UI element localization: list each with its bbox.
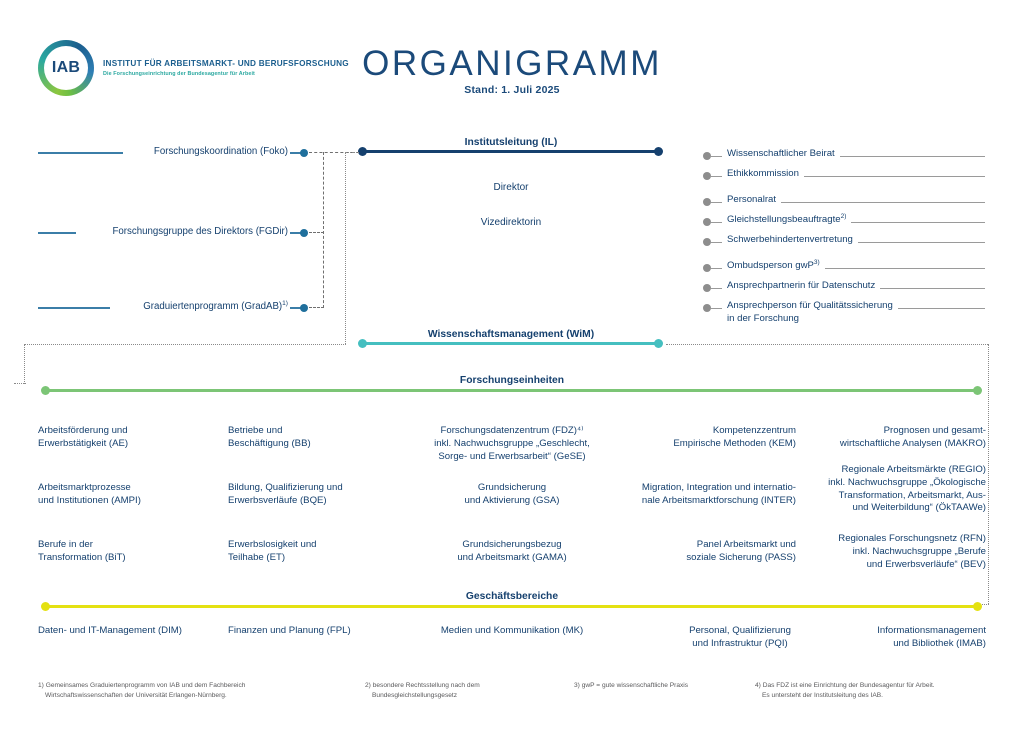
footnote-4: 4) Das FDZ ist eine Einrichtung der Bund… xyxy=(755,681,1005,700)
research-unit-bit: Berufe in derTransformation (BiT) xyxy=(38,539,213,565)
research-unit-makro: Prognosen und gesamt-wirtschaftliche Ana… xyxy=(790,425,986,451)
footnote-4-line1: Das FDZ ist eine Einrichtung der Bundesa… xyxy=(763,682,935,689)
footnote-1-line2: Wirtschaftswissenschaften der Universitä… xyxy=(38,691,338,701)
advisory-item-datenschutz: Ansprechpartnerin für Datenschutz xyxy=(703,280,985,293)
connector-fgdir-horizontal xyxy=(309,232,324,233)
advisory-dash xyxy=(711,176,722,177)
footnote-2-num: 2) xyxy=(365,682,371,689)
advisory-dash xyxy=(711,156,722,157)
connector-enclosure-left-foot xyxy=(14,383,26,384)
advisory-tail xyxy=(858,242,985,243)
institutsleitung-dot-right xyxy=(654,147,663,156)
advisory-dash xyxy=(711,222,722,223)
advisory-label: Ombudsperson gwP3) xyxy=(722,260,825,273)
advisory-dot-icon xyxy=(703,198,711,206)
footnote-3-line1: gwP = gute wissenschaftliche Praxis xyxy=(582,682,688,689)
business-unit-dim: Daten- und IT-Management (DIM) xyxy=(38,625,218,638)
business-unit-mk: Medien und Kommunikation (MK) xyxy=(392,625,632,638)
research-unit-ae: Arbeitsförderung undErwerbstätigkeit (AE… xyxy=(38,425,213,451)
advisory-tail xyxy=(880,288,985,289)
advisory-tail xyxy=(781,202,985,203)
forschungseinheiten-bar xyxy=(46,389,978,392)
footnote-2-line1: besondere Rechtsstellung nach dem xyxy=(373,682,480,689)
advisory-tail xyxy=(898,308,985,309)
advisory-label: Ethikkommission xyxy=(722,168,804,181)
institutsleitung-bar xyxy=(363,150,659,153)
connector-il-to-wim-left xyxy=(345,152,346,344)
advisory-note: 3) xyxy=(814,259,820,266)
research-unit-pass: Panel Arbeitsmarkt undsoziale Sicherung … xyxy=(596,539,796,565)
advisory-item-gleichstellungsbeauftragte: Gleichstellungsbeauftragte2) xyxy=(703,214,985,227)
footnote-3: 3) gwP = gute wissenschaftliche Praxis xyxy=(574,681,754,691)
wissenschaftsmanagement-dot-left xyxy=(358,339,367,348)
research-unit-rfn: Regionales Forschungsnetz (RFN)inkl. Nac… xyxy=(790,533,986,571)
forschungseinheiten-title: Forschungseinheiten xyxy=(262,375,762,386)
footnote-3-num: 3) xyxy=(574,682,580,689)
staff-dot-gradab xyxy=(300,304,308,312)
advisory-item-qualitaetssicherung: Ansprechperson für Qualitätssicherungin … xyxy=(703,300,985,325)
leadership-role-direktor: Direktor xyxy=(361,181,661,194)
connector-enclosure-right xyxy=(988,344,989,604)
staff-label-fgdir: Forschungsgruppe des Direktors (FGDir) xyxy=(0,226,288,237)
advisory-label: Gleichstellungsbeauftragte2) xyxy=(722,214,851,227)
organigramm-page: IAB INSTITUT FÜR ARBEITSMARKT- UND BERUF… xyxy=(0,0,1024,732)
geschaeftsbereiche-dot-left xyxy=(41,602,50,611)
footnote-2-line2: Bundesgleichstellungsgesetz xyxy=(365,691,565,701)
advisory-dot-icon xyxy=(703,218,711,226)
advisory-dot-icon xyxy=(703,152,711,160)
advisory-tail xyxy=(851,222,985,223)
advisory-label: Wissenschaftlicher Beirat xyxy=(722,148,840,161)
institutsleitung-title: Institutsleitung (IL) xyxy=(361,137,661,148)
advisory-dash xyxy=(711,288,722,289)
advisory-item-ombudsperson-gwp: Ombudsperson gwP3) xyxy=(703,260,985,273)
advisory-dash xyxy=(711,308,722,309)
advisory-tail xyxy=(804,176,985,177)
footnote-2: 2) besondere Rechtsstellung nach dem Bun… xyxy=(365,681,565,700)
advisory-dash xyxy=(711,202,722,203)
iab-logo-mark: IAB xyxy=(52,59,80,77)
advisory-label: Personalrat xyxy=(722,194,781,207)
staff-dot-fgdir xyxy=(300,229,308,237)
research-unit-inter: Migration, Integration und internatio-na… xyxy=(596,482,796,508)
footnote-1: 1) Gemeinsames Graduiertenprogramm von I… xyxy=(38,681,338,700)
business-unit-imab: Informationsmanagementund Bibliothek (IM… xyxy=(790,625,986,651)
connector-wim-left-run xyxy=(24,344,346,345)
geschaeftsbereiche-bar xyxy=(46,605,978,608)
institutsleitung-dot-left xyxy=(358,147,367,156)
advisory-dot-icon xyxy=(703,284,711,292)
connector-il-left-tick xyxy=(345,152,359,153)
page-title: ORGANIGRAMM xyxy=(0,44,1024,84)
advisory-dot-icon xyxy=(703,172,711,180)
connector-wim-right-run xyxy=(666,344,988,345)
advisory-item-ethikkommission: Ethikkommission xyxy=(703,168,985,181)
advisory-label: Schwerbehindertenvertretung xyxy=(722,234,858,247)
advisory-dash xyxy=(711,242,722,243)
advisory-note: 2) xyxy=(841,213,847,220)
leadership-role-vizedirektorin: Vizedirektorin xyxy=(361,216,661,229)
footnote-1-num: 1) xyxy=(38,682,44,689)
advisory-item-wissenschaftlicher-beirat: Wissenschaftlicher Beirat xyxy=(703,148,985,161)
connector-staff-spine xyxy=(323,152,324,308)
wissenschaftsmanagement-bar xyxy=(363,342,659,345)
advisory-item-personalrat: Personalrat xyxy=(703,194,985,207)
staff-dot-foko xyxy=(300,149,308,157)
staff-note-gradab: 1) xyxy=(282,300,288,307)
staff-label-gradab: Graduiertenprogramm (GradAB)1) xyxy=(0,301,288,312)
advisory-dot-icon xyxy=(703,238,711,246)
advisory-label: Ansprechperson für Qualitätssicherungin … xyxy=(722,300,898,325)
advisory-tail xyxy=(840,156,985,157)
page-subtitle: Stand: 1. Juli 2025 xyxy=(0,84,1024,96)
footnote-4-line2: Es untersteht der Institutsleitung des I… xyxy=(755,691,1005,701)
advisory-item-schwerbehindertenvertretung: Schwerbehindertenvertretung xyxy=(703,234,985,247)
advisory-tail xyxy=(825,268,985,269)
staff-label-foko: Forschungskoordination (Foko) xyxy=(0,146,288,157)
connector-gradab-horizontal xyxy=(309,307,324,308)
research-unit-regio: Regionale Arbeitsmärkte (REGIO)inkl. Nac… xyxy=(790,464,986,515)
research-unit-kem: KompetenzzentrumEmpirische Methoden (KEM… xyxy=(596,425,796,451)
advisory-dot-icon xyxy=(703,304,711,312)
connector-enclosure-left xyxy=(24,344,25,384)
footnote-4-num: 4) xyxy=(755,682,761,689)
advisory-dot-icon xyxy=(703,264,711,272)
forschungseinheiten-dot-right xyxy=(973,386,982,395)
business-unit-fpl: Finanzen und Planung (FPL) xyxy=(228,625,418,638)
research-unit-ampi: Arbeitsmarktprozesseund Institutionen (A… xyxy=(38,482,218,508)
advisory-label: Ansprechpartnerin für Datenschutz xyxy=(722,280,880,293)
geschaeftsbereiche-dot-right xyxy=(973,602,982,611)
wissenschaftsmanagement-dot-right xyxy=(654,339,663,348)
footnote-1-line1: Gemeinsames Graduiertenprogramm von IAB … xyxy=(46,682,246,689)
advisory-dash xyxy=(711,268,722,269)
geschaeftsbereiche-title: Geschäftsbereiche xyxy=(262,591,762,602)
wissenschaftsmanagement-title: Wissenschaftsmanagement (WiM) xyxy=(361,329,661,340)
forschungseinheiten-dot-left xyxy=(41,386,50,395)
